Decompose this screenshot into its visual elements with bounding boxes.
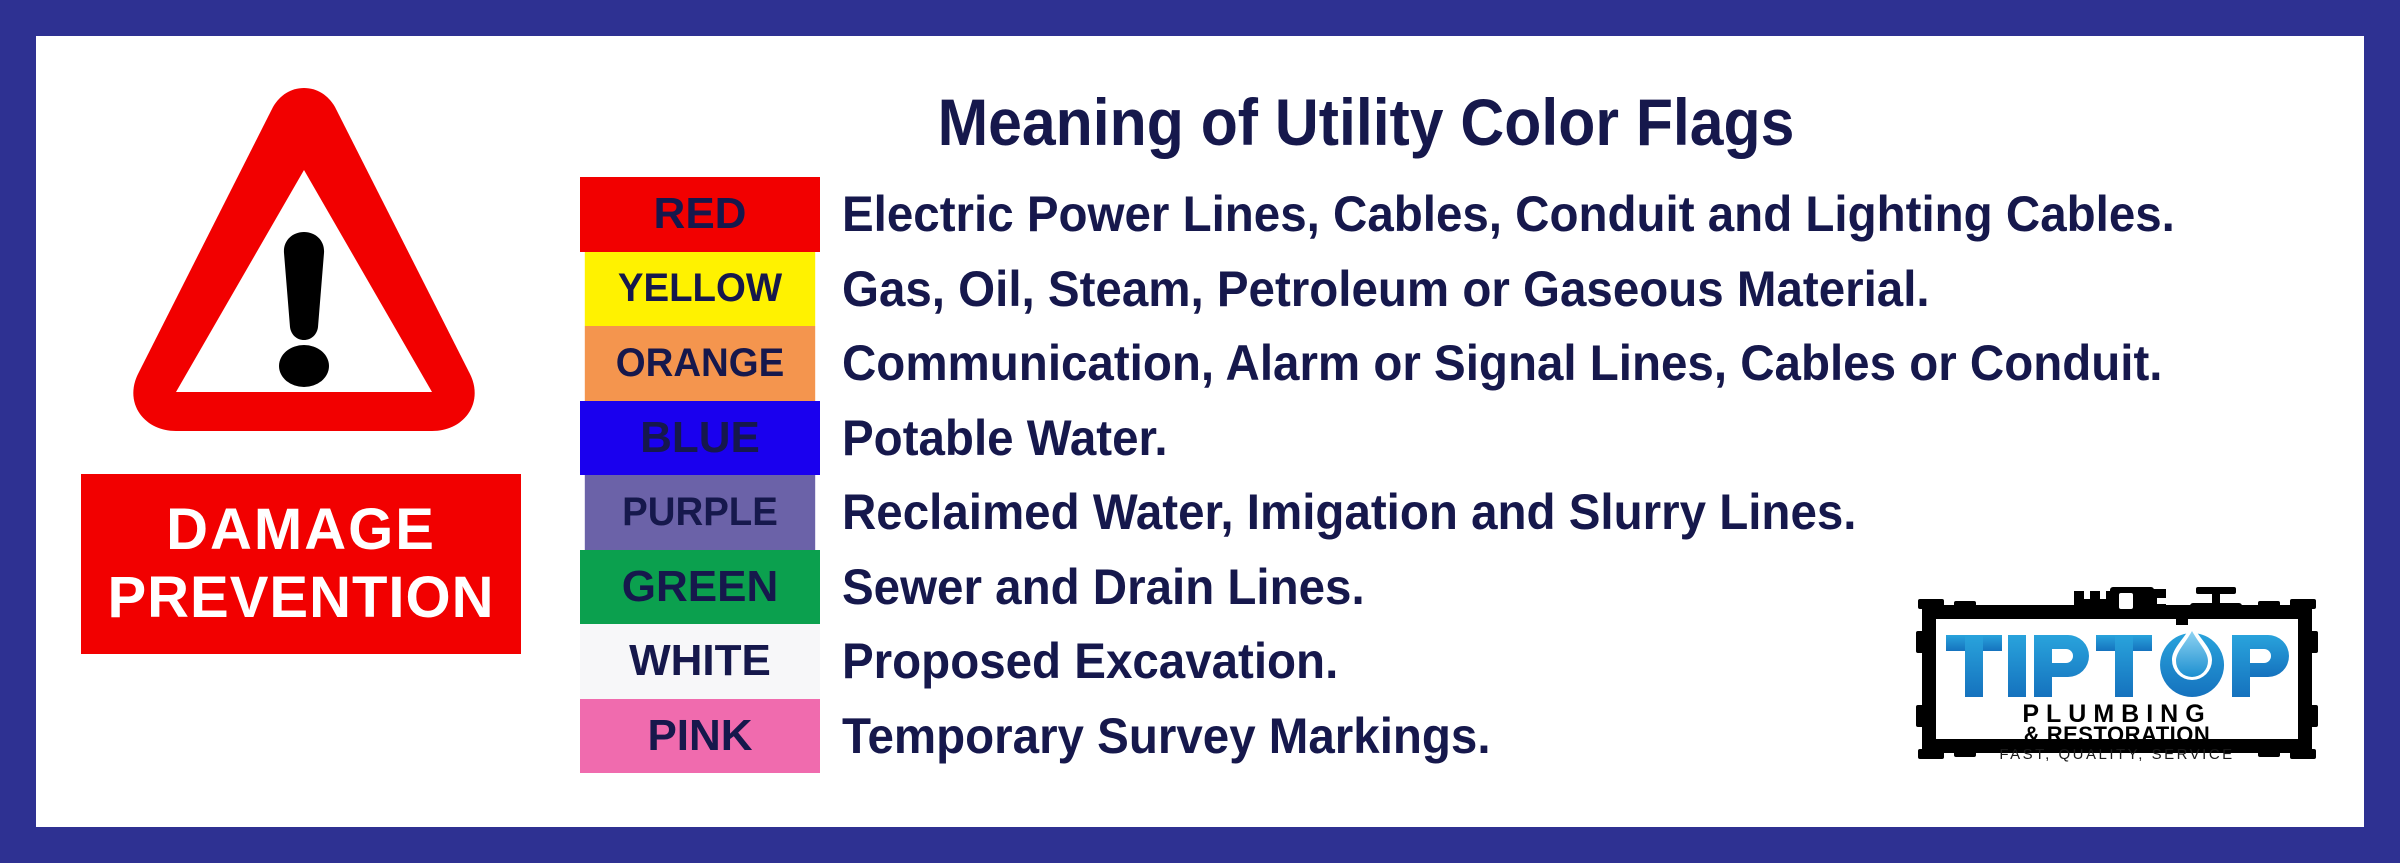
description-text: Proposed Excavation. <box>842 632 1338 690</box>
plate-line-prevention: PREVENTION <box>107 569 494 627</box>
color-swatch-yellow: YELLOW <box>585 252 815 327</box>
color-swatch-white: WHITE <box>580 624 820 699</box>
description-text: Communication, Alarm or Signal Lines, Ca… <box>842 334 2162 392</box>
content-panel: DAMAGE PREVENTION Meaning of Utility Col… <box>36 36 2364 827</box>
damage-prevention-plate: DAMAGE PREVENTION <box>81 474 521 654</box>
warning-triangle-exclamation-icon <box>129 74 479 464</box>
color-description-blue: Potable Water. <box>820 401 2340 476</box>
description-text: Reclaimed Water, Imigation and Slurry Li… <box>842 483 1856 541</box>
description-text: Sewer and Drain Lines. <box>842 558 1365 616</box>
logo-line-restoration: & RESTORATION <box>2024 722 2211 747</box>
water-droplet-icon <box>2172 625 2212 680</box>
color-swatch-pink: PINK <box>580 699 820 774</box>
description-text: Temporary Survey Markings. <box>842 707 1491 765</box>
color-description-red: Electric Power Lines, Cables, Conduit an… <box>820 177 2340 252</box>
page-title: Meaning of Utility Color Flags <box>786 84 1945 160</box>
brand-wordmark <box>1946 633 2289 697</box>
color-description-yellow: Gas, Oil, Steam, Petroleum or Gaseous Ma… <box>820 252 2340 327</box>
color-description-orange: Communication, Alarm or Signal Lines, Ca… <box>820 326 2340 401</box>
color-swatch-blue: BLUE <box>580 401 820 476</box>
table-row: RED Electric Power Lines, Cables, Condui… <box>580 177 2340 252</box>
plate-line-damage: DAMAGE <box>166 501 436 559</box>
description-text: Electric Power Lines, Cables, Conduit an… <box>842 185 2175 243</box>
poster-root: DAMAGE PREVENTION Meaning of Utility Col… <box>0 0 2400 863</box>
color-description-purple: Reclaimed Water, Imigation and Slurry Li… <box>820 475 2340 550</box>
logo-tagline: FAST, QUALITY, SERVICE <box>1999 746 2234 763</box>
table-row: ORANGE Communication, Alarm or Signal Li… <box>580 326 2340 401</box>
color-swatch-orange: ORANGE <box>585 326 815 401</box>
table-row: PURPLE Reclaimed Water, Imigation and Sl… <box>580 475 2340 550</box>
description-text: Potable Water. <box>842 409 1168 467</box>
table-row: YELLOW Gas, Oil, Steam, Petroleum or Gas… <box>580 252 2340 327</box>
damage-prevention-sign: DAMAGE PREVENTION <box>81 74 521 694</box>
color-swatch-red: RED <box>580 177 820 252</box>
color-swatch-purple: PURPLE <box>585 475 815 550</box>
description-text: Gas, Oil, Steam, Petroleum or Gaseous Ma… <box>842 260 1930 318</box>
color-swatch-green: GREEN <box>580 550 820 625</box>
tiptop-plumbing-logo: PLUMBING & RESTORATION FAST, QUALITY, SE… <box>1914 579 2320 767</box>
table-row: BLUE Potable Water. <box>580 401 2340 476</box>
pipe-wrench-icon <box>2074 587 2166 615</box>
